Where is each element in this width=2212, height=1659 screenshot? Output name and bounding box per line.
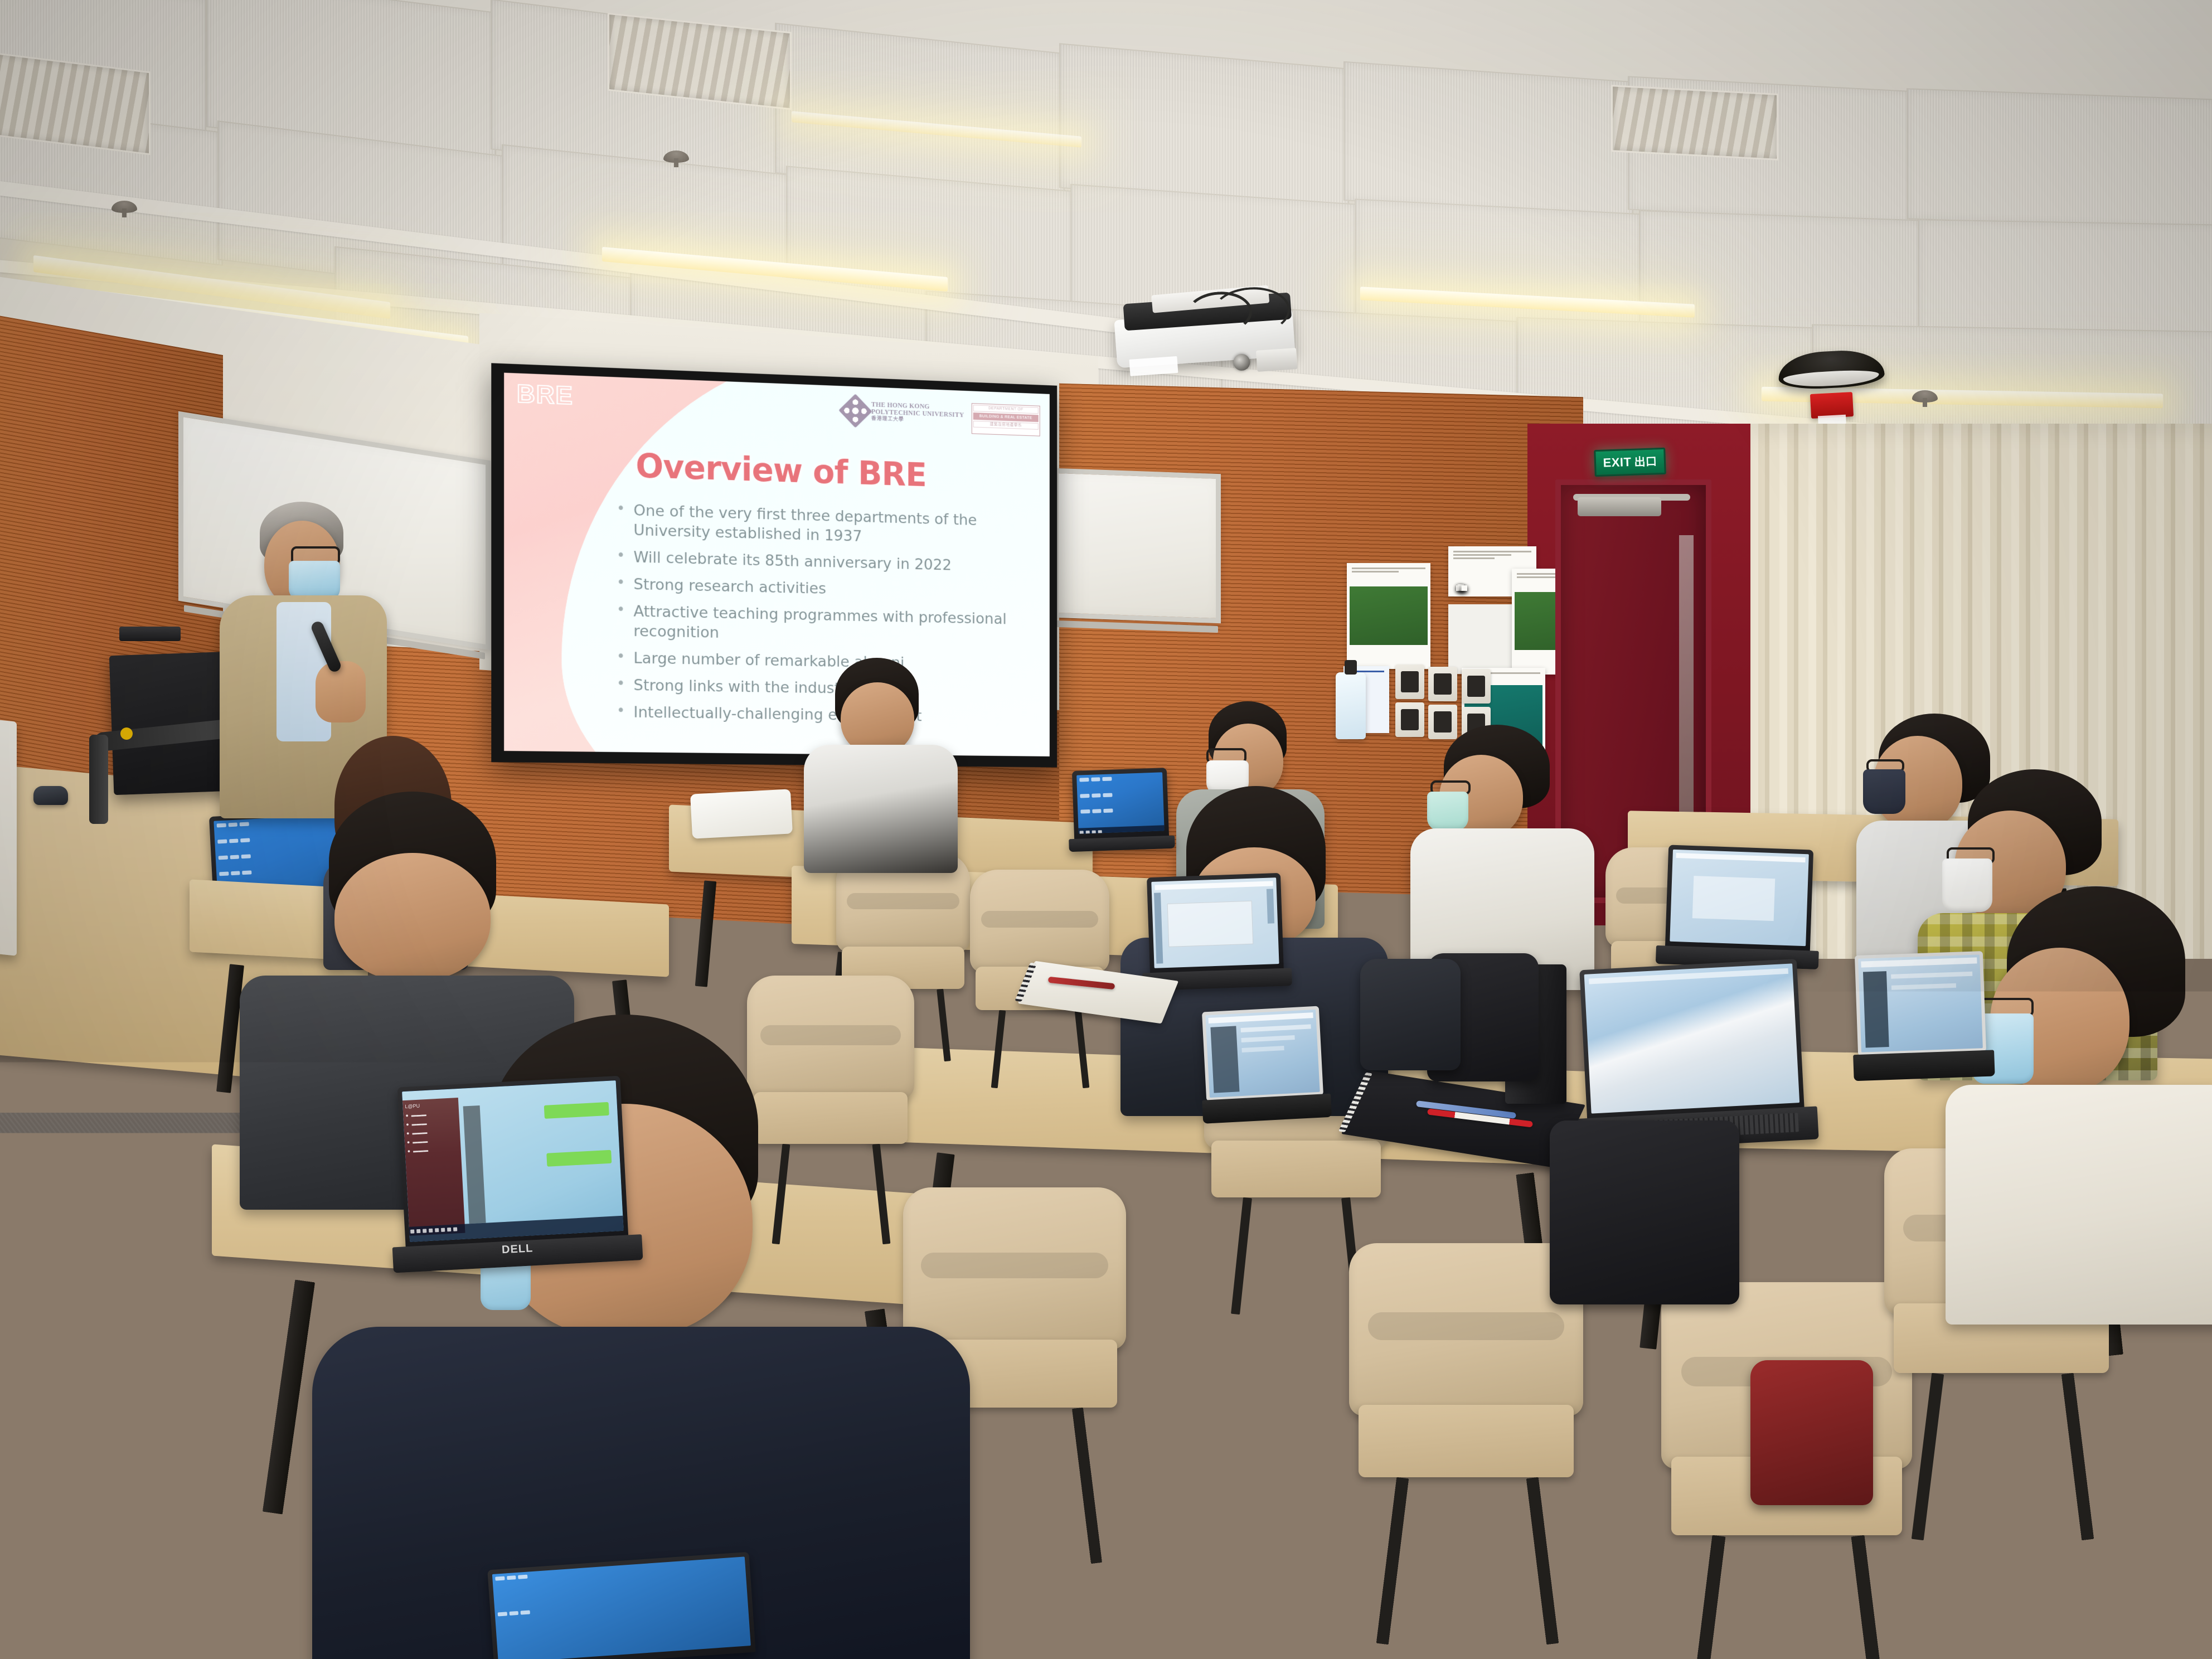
slide-bullet: Strong research activities	[617, 574, 1026, 603]
poster-hygiene-left	[1347, 563, 1430, 669]
presenter-hand	[316, 661, 366, 722]
student-shirt	[1946, 1085, 2212, 1325]
webcam	[119, 627, 181, 641]
monitor-arm-knob	[120, 727, 133, 740]
bre-brand-badge: BRE	[511, 376, 586, 414]
ipad-right[interactable]	[1855, 951, 1986, 1056]
backpack-foreground[interactable]	[1550, 1120, 1739, 1304]
poster-hand-hygiene	[1462, 585, 1467, 591]
projector-ports	[1256, 348, 1297, 372]
bre-department-logo: DEPARTMENT OF BUILDING & REAL ESTATE 建築及…	[972, 403, 1040, 436]
exit-sign: EXIT 出口	[1594, 448, 1666, 477]
lms-message-bubble	[544, 1102, 609, 1119]
hand-sanitizer[interactable]	[1336, 672, 1366, 739]
polyu-logo: THE HONG KONG POLYTECHNIC UNIVERSITY 香港理…	[843, 398, 964, 427]
fire-alarm-strobe	[1810, 392, 1854, 419]
tissue-pack[interactable]	[690, 789, 793, 838]
classroom-photo: EXIT 出口 BRE THE HONG KONG POLYTECHNIC UN…	[0, 0, 2212, 1659]
ipad-row2[interactable]	[1202, 1006, 1323, 1102]
lectern-side-panel	[0, 716, 17, 955]
exit-sign-text-en: EXIT	[1603, 456, 1632, 469]
air-vent	[1611, 85, 1778, 161]
laptop-tablet-row3[interactable]	[1579, 959, 1804, 1120]
door-vision-panel	[1679, 535, 1694, 831]
student-face-mask	[1427, 792, 1468, 831]
presentation-slide: BRE THE HONG KONG POLYTECHNIC UNIVERSITY…	[504, 373, 1050, 756]
polyu-emblem-icon	[838, 394, 872, 428]
laptop-dell-lms[interactable]: L@PU ● ▬▬▬ ● ▬▬▬ ● ▬▬▬ ● ▬▬▬ ● ▬▬▬ DELL	[397, 1076, 629, 1249]
power-socket[interactable]	[1428, 667, 1457, 701]
bre-dept-line3-zh: 建築及房地產學系	[973, 421, 1039, 430]
laptop-row1[interactable]	[1072, 768, 1169, 841]
lms-message-bubble	[547, 1150, 612, 1167]
backpack-floor[interactable]	[925, 1472, 1093, 1656]
laptop-row2-document[interactable]	[1147, 873, 1284, 975]
student-face-mask	[1863, 769, 1905, 814]
bre-badge-text: BRE	[517, 380, 574, 411]
backpack-right-floor[interactable]	[1750, 1360, 1873, 1505]
power-socket[interactable]	[1395, 664, 1424, 699]
chair[interactable]	[1349, 1243, 1583, 1522]
student-right-foreground	[1968, 886, 2212, 1321]
slide-bullet: Will celebrate its 85th anniversary in 2…	[617, 547, 1026, 576]
door-closer	[1578, 497, 1661, 516]
lms-sidebar[interactable]: L@PU ● ▬▬▬ ● ▬▬▬ ● ▬▬▬ ● ▬▬▬ ● ▬▬▬	[402, 1098, 465, 1236]
ceiling-projector	[1113, 283, 1318, 374]
power-socket[interactable]	[1462, 669, 1491, 704]
student-shirt	[804, 745, 958, 873]
slide-bullet: Attractive teaching programmes with prof…	[617, 601, 1026, 649]
projection-screen: BRE THE HONG KONG POLYTECHNIC UNIVERSITY…	[491, 363, 1057, 767]
laptop-row2-right[interactable]	[1665, 845, 1813, 953]
projector-label	[1129, 356, 1178, 376]
bag-under-desk-left[interactable]	[1360, 959, 1461, 1070]
water-bottle[interactable]	[2141, 1449, 2208, 1633]
student-back-center	[797, 658, 964, 864]
laptop-bottom-edge[interactable]	[487, 1552, 755, 1659]
poster-diagram-center	[1448, 604, 1515, 674]
exit-sign-text-zh: 出口	[1634, 455, 1657, 468]
student-head	[841, 682, 914, 755]
whiteboard-right	[1054, 468, 1221, 623]
student-white-shirt	[1410, 725, 1600, 987]
computer-mouse[interactable]	[33, 786, 68, 805]
monitor-arm-post[interactable]	[89, 735, 108, 824]
student-head	[334, 853, 491, 981]
lms-portal-label: L@PU	[405, 1101, 456, 1109]
